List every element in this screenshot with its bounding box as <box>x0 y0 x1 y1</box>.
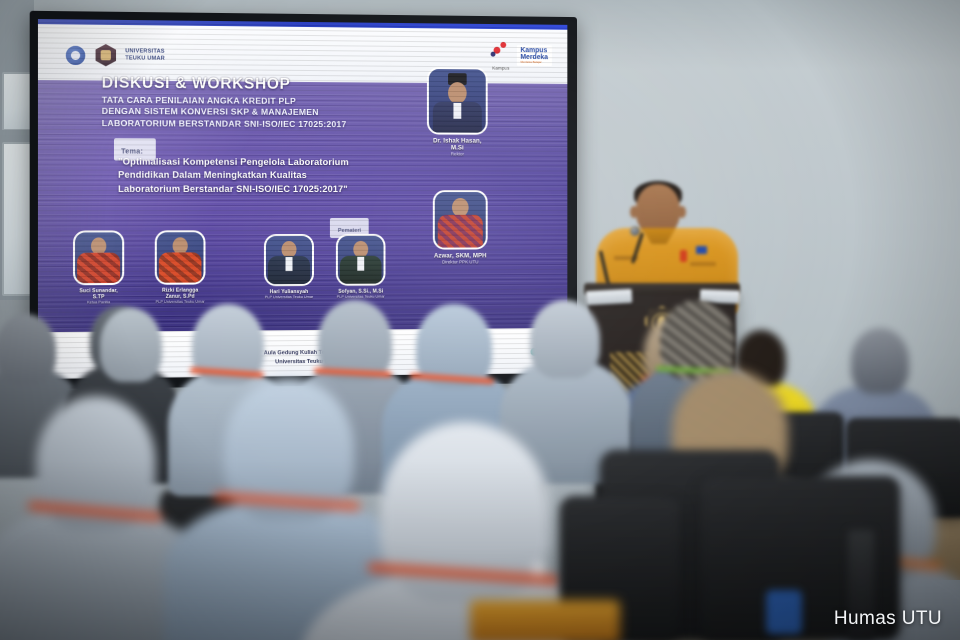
photo-watermark: Humas UTU <box>834 608 942 630</box>
event-photo: UNIVERSITAS TEUKU UMAR Kampus Kampus Mer… <box>0 0 960 640</box>
photo-vignette <box>0 0 960 640</box>
